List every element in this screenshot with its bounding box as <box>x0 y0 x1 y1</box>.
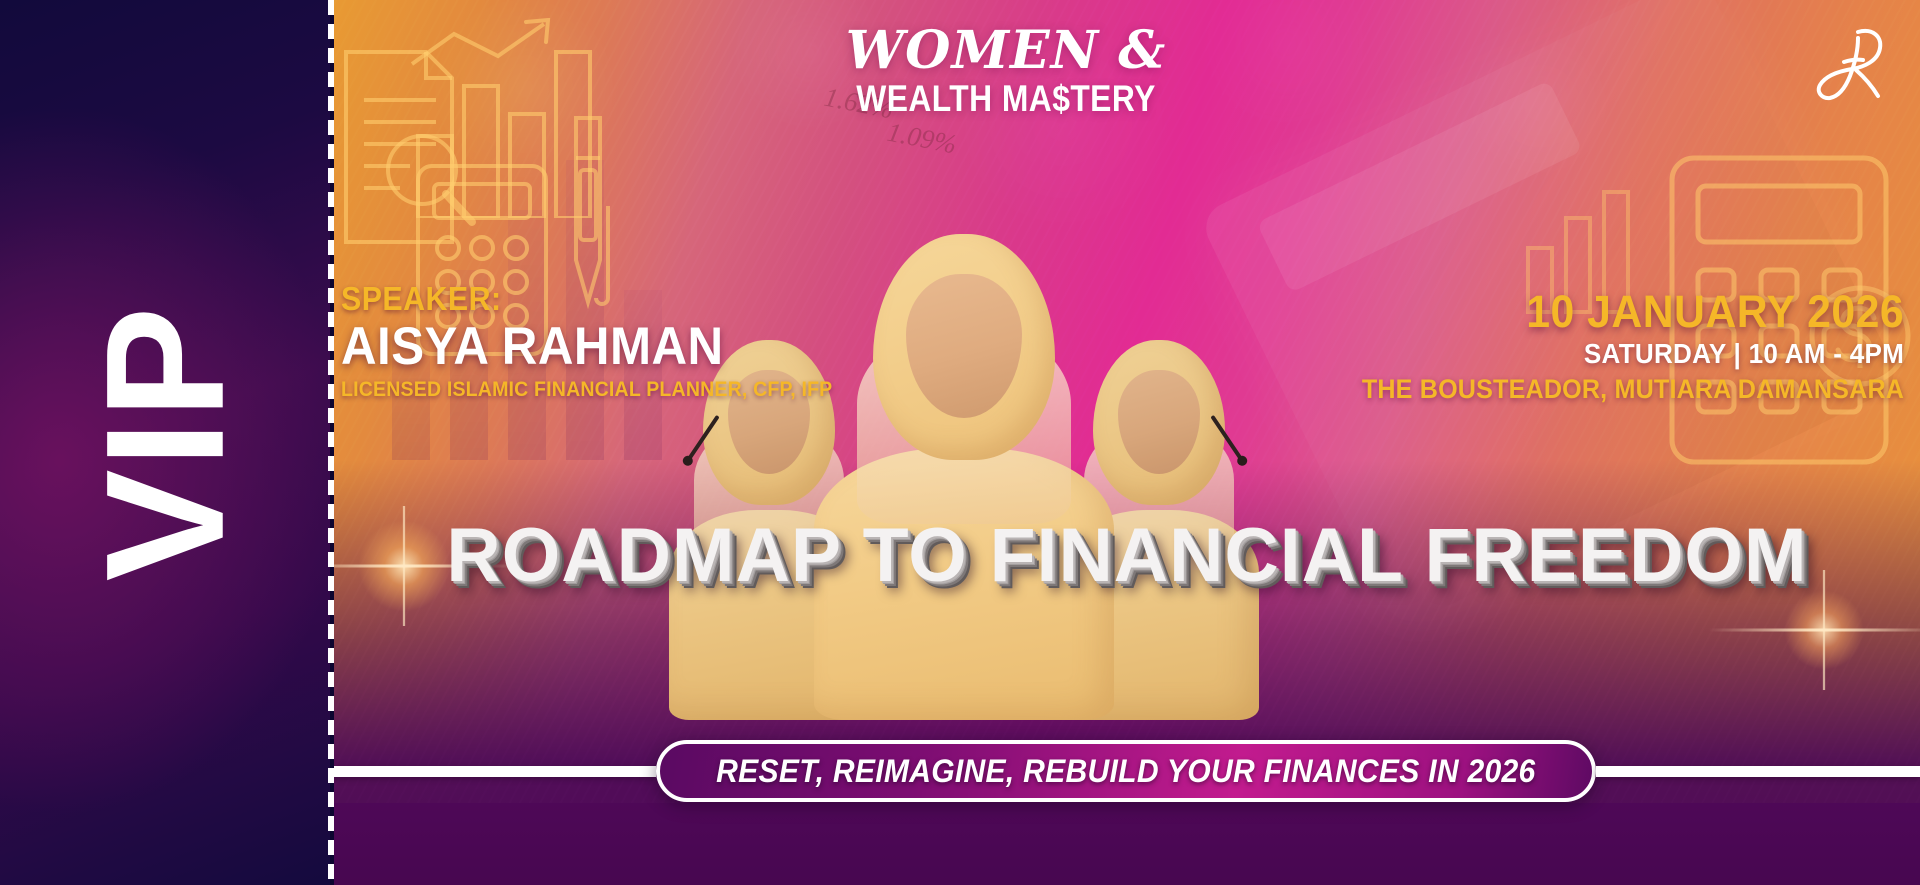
subtitle-rule-left <box>334 766 656 777</box>
speaker-photo-center <box>804 200 1124 720</box>
subtitle-pill: RESET, REIMAGINE, REBUILD YOUR FINANCES … <box>656 740 1596 802</box>
speaker-info-block: SPEAKER: AISYA RAHMAN LICENSED ISLAMIC F… <box>341 280 869 402</box>
event-ticket: VIP <box>0 0 1920 885</box>
brand-script-line: WOMEN & <box>826 24 1186 78</box>
event-venue: THE BOUSTEADOR, MUTIARA DAMANSARA <box>1362 374 1904 405</box>
ar-monogram-icon <box>1806 18 1894 104</box>
speaker-name: AISYA RAHMAN <box>341 320 832 374</box>
brand-block-line: WEALTH MA$TERY <box>851 80 1161 118</box>
ticket-main-panel: 1.62% 1.09% WOMEN & WEALTH MA$TERY <box>334 0 1920 885</box>
subtitle-bar: RESET, REIMAGINE, REBUILD YOUR FINANCES … <box>334 739 1920 803</box>
subtitle-text: RESET, REIMAGINE, REBUILD YOUR FINANCES … <box>716 753 1535 790</box>
event-day-time: SATURDAY | 10 AM - 4PM <box>1362 338 1904 370</box>
vip-tier-label: VIP <box>88 304 243 581</box>
subtitle-rule-right <box>1596 766 1920 777</box>
speaker-photo-group <box>654 120 1274 720</box>
vip-stub: VIP <box>0 0 330 885</box>
perforation-line <box>328 0 334 885</box>
speaker-credentials: LICENSED ISLAMIC FINANCIAL PLANNER, CFP,… <box>341 378 832 402</box>
speaker-label: SPEAKER: <box>341 280 827 318</box>
event-date: 10 JANUARY 2026 <box>1350 288 1904 335</box>
event-details-block: 10 JANUARY 2026 SATURDAY | 10 AM - 4PM T… <box>1321 288 1904 405</box>
brand-logo: WOMEN & WEALTH MA$TERY <box>826 24 1186 118</box>
event-headline: ROADMAP TO FINANCIAL FREEDOM <box>342 512 1912 599</box>
footer-band <box>334 803 1920 885</box>
